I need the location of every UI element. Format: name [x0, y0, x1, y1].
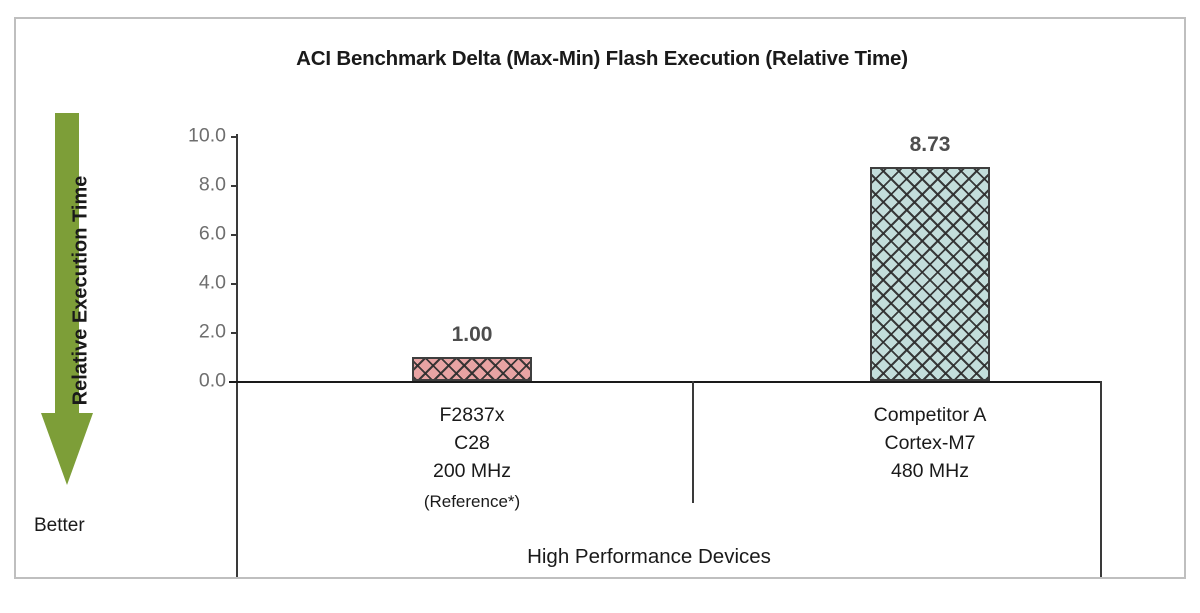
- category-line-1: F2837x: [322, 401, 622, 429]
- category-label-competitor-a: Competitor A Cortex-M7 480 MHz: [780, 401, 1080, 485]
- category-line-3: 480 MHz: [780, 457, 1080, 485]
- bar-competitor-a[interactable]: [870, 167, 990, 381]
- plot-area: 10.0 8.0 6.0 4.0 2.0 0.0 1.00 8.73: [16, 19, 1188, 577]
- category-line-1: Competitor A: [780, 401, 1080, 429]
- bar-f2837x[interactable]: [412, 357, 532, 382]
- chart-frame: ACI Benchmark Delta (Max-Min) Flash Exec…: [14, 17, 1186, 579]
- category-label-f2837x: F2837x C28 200 MHz: [322, 401, 622, 485]
- bar-value-f2837x: 1.00: [392, 323, 552, 347]
- x-axis-group-label: High Performance Devices: [429, 545, 869, 569]
- category-line-2: Cortex-M7: [780, 429, 1080, 457]
- plot-right-border: [1100, 381, 1102, 577]
- category-divider: [692, 381, 694, 503]
- category-line-3: 200 MHz: [322, 457, 622, 485]
- x-axis-line: [229, 381, 1102, 383]
- y-axis-line: [236, 134, 238, 577]
- category-line-2: C28: [322, 429, 622, 457]
- bar-value-competitor-a: 8.73: [850, 133, 1010, 157]
- category-note-f2837x: (Reference*): [322, 492, 622, 512]
